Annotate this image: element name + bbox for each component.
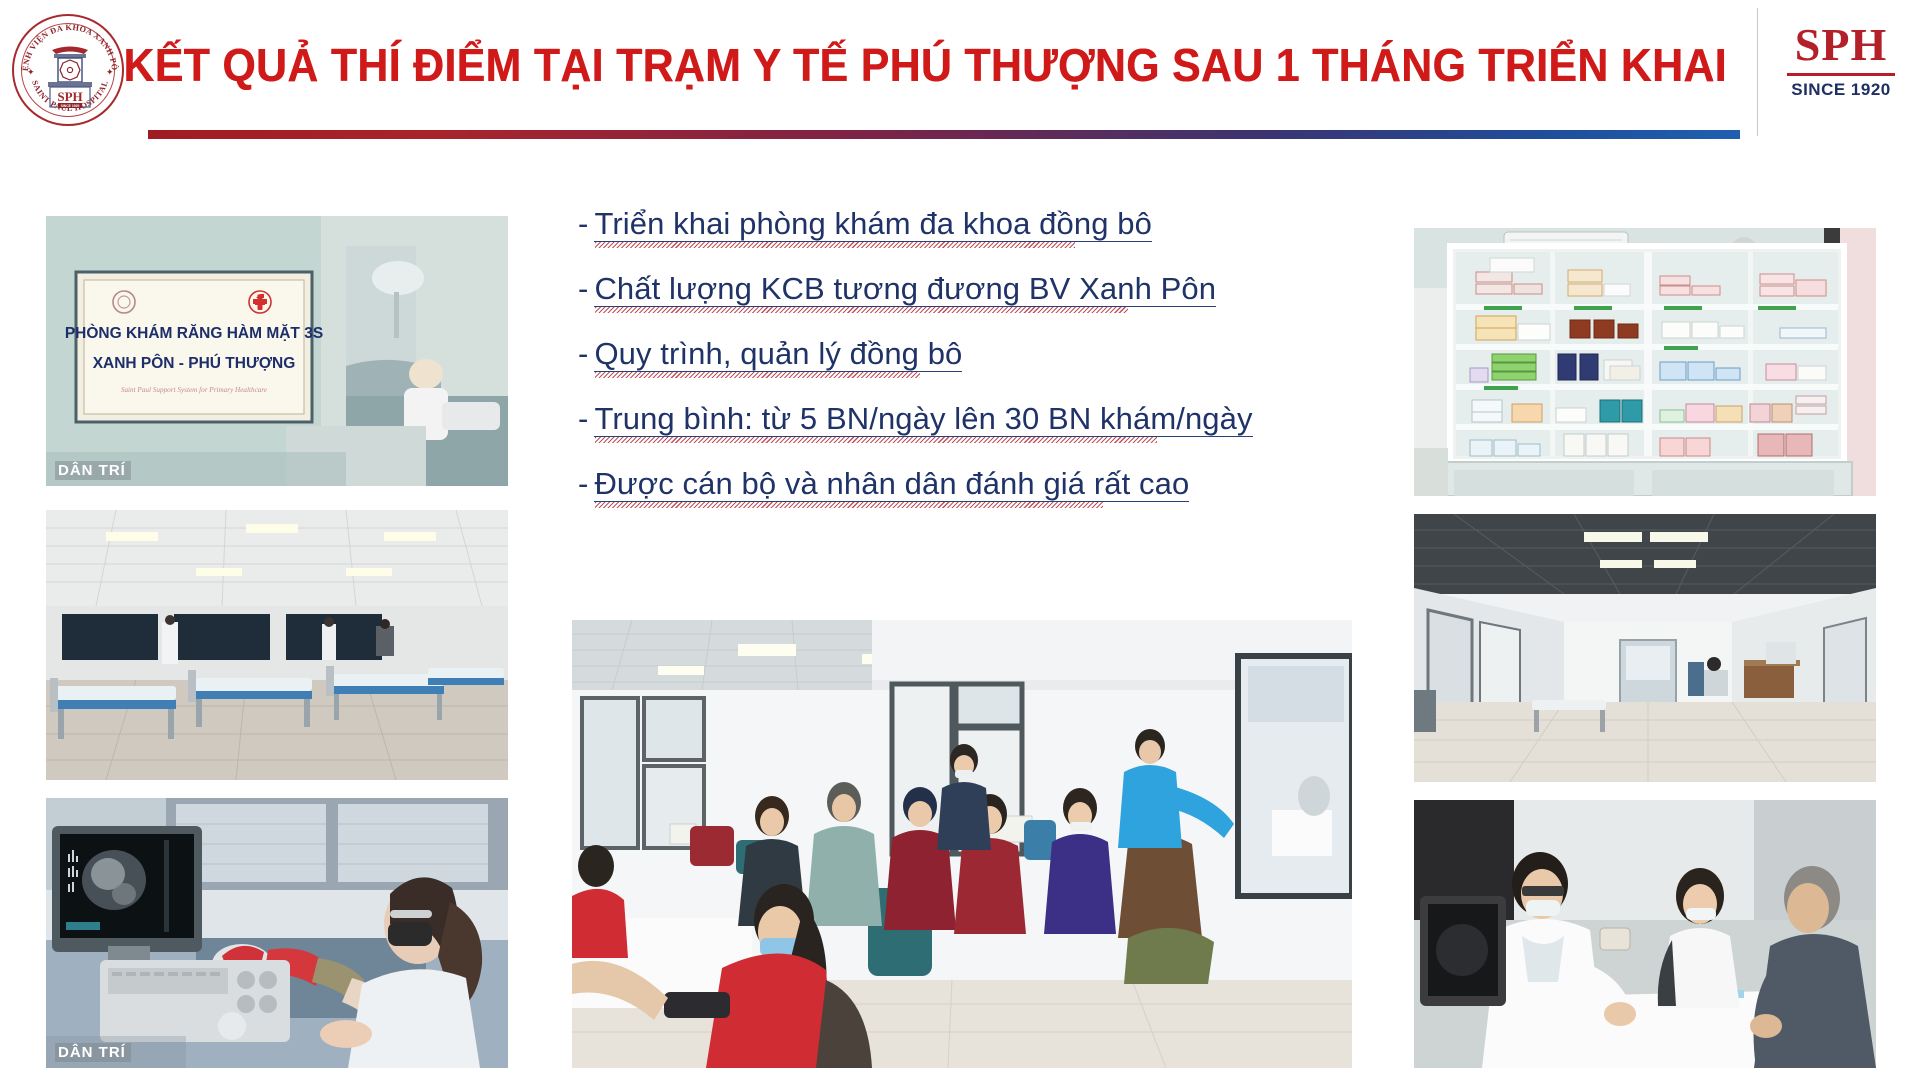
spellcheck-underline [595,502,1103,508]
svg-text:✦: ✦ [27,67,35,77]
spellcheck-underline [595,437,1157,443]
slide-title-container: KẾT QUẢ THÍ ĐIỂM TẠI TRẠM Y TẾ PHÚ THƯỢN… [140,30,1710,100]
photo-watermark: DÂN TRÍ [55,1043,131,1062]
photo-dental-graphic: PHÒNG KHÁM RĂNG HÀM MẶT 3S XANH PÔN - PH… [46,216,508,486]
photo-consult-graphic [1414,800,1876,1068]
photo-waiting-room [572,620,1352,1068]
photo-ward-graphic [46,510,508,780]
bullet-text: Quy trình, quản lý đồng bô [594,338,962,372]
bullet-text: Chất lượng KCB tương đương BV Xanh Pôn [594,273,1216,307]
spellcheck-underline [595,242,1075,248]
photo-pharmacy-cabinet [1414,228,1876,496]
svg-text:XANH PÔN - PHÚ THƯỢNG: XANH PÔN - PHÚ THƯỢNG [93,354,296,372]
photo-corridor-graphic [1414,514,1876,782]
photo-hospital-ward [46,510,508,780]
spellcheck-underline [595,372,920,378]
bullet-dash: - [578,338,588,369]
photo-consultation [1414,800,1876,1068]
svg-text:PHÒNG KHÁM RĂNG HÀM MẶT 3S: PHÒNG KHÁM RĂNG HÀM MẶT 3S [65,324,323,342]
svg-text:✦: ✦ [106,67,114,77]
photo-waiting-graphic [572,620,1352,1068]
svg-text:SPH: SPH [57,89,82,104]
bullet-item: -Quy trình, quản lý đồng bô [578,338,1298,372]
bullet-dash: - [578,468,588,499]
bullet-item: -Chất lượng KCB tương đương BV Xanh Pôn [578,273,1298,307]
header-vertical-separator [1757,8,1758,136]
bullet-dash: - [578,403,588,434]
photo-pharmacy-graphic [1414,228,1876,496]
bullet-item: -Triển khai phòng khám đa khoa đồng bô [578,208,1298,242]
sph-brand-logo: SPH SINCE 1920 [1775,22,1907,100]
photo-ultrasound-graphic [46,798,508,1068]
bullet-dash: - [578,273,588,304]
hospital-seal-logo: BỆNH VIỆN ĐA KHOA XANH PÔN SAINT PAUL HO… [12,14,124,126]
sph-brand-rule [1787,73,1895,76]
bullet-dash: - [578,208,588,239]
bullet-item: -Được cán bộ và nhân dân đánh giá rất ca… [578,468,1298,502]
sph-brand-name: SPH [1775,22,1907,68]
slide-title: KẾT QUẢ THÍ ĐIỂM TẠI TRẠM Y TẾ PHÚ THƯỢN… [123,38,1726,92]
photo-watermark: DÂN TRÍ [55,461,131,480]
svg-text:SINCE 1920: SINCE 1920 [61,104,80,108]
slide-header: BỆNH VIỆN ĐA KHOA XANH PÔN SAINT PAUL HO… [0,0,1920,148]
sph-brand-tagline: SINCE 1920 [1775,80,1907,100]
slide-root: BỆNH VIỆN ĐA KHOA XANH PÔN SAINT PAUL HO… [0,0,1920,1086]
photo-dental-clinic-sign: PHÒNG KHÁM RĂNG HÀM MẶT 3S XANH PÔN - PH… [46,216,508,486]
svg-text:BỆNH VIỆN ĐA KHOA XANH PÔN: BỆNH VIỆN ĐA KHOA XANH PÔN [14,16,120,71]
photo-corridor [1414,514,1876,782]
photo-ultrasound-exam: DÂN TRÍ [46,798,508,1068]
svg-text:Saint Paul Support System for: Saint Paul Support System for Primary He… [121,386,268,394]
seal-graphic: BỆNH VIỆN ĐA KHOA XANH PÔN SAINT PAUL HO… [14,16,126,128]
bullet-list: -Triển khai phòng khám đa khoa đồng bô -… [578,208,1298,533]
spellcheck-underline [595,307,1128,313]
header-divider-bar [148,130,1740,139]
bullet-text: Được cán bộ và nhân dân đánh giá rất cao [594,468,1189,502]
bullet-item: -Trung bình: từ 5 BN/ngày lên 30 BN khám… [578,403,1298,437]
bullet-text: Trung bình: từ 5 BN/ngày lên 30 BN khám/… [594,403,1252,437]
bullet-text: Triển khai phòng khám đa khoa đồng bô [594,208,1152,242]
